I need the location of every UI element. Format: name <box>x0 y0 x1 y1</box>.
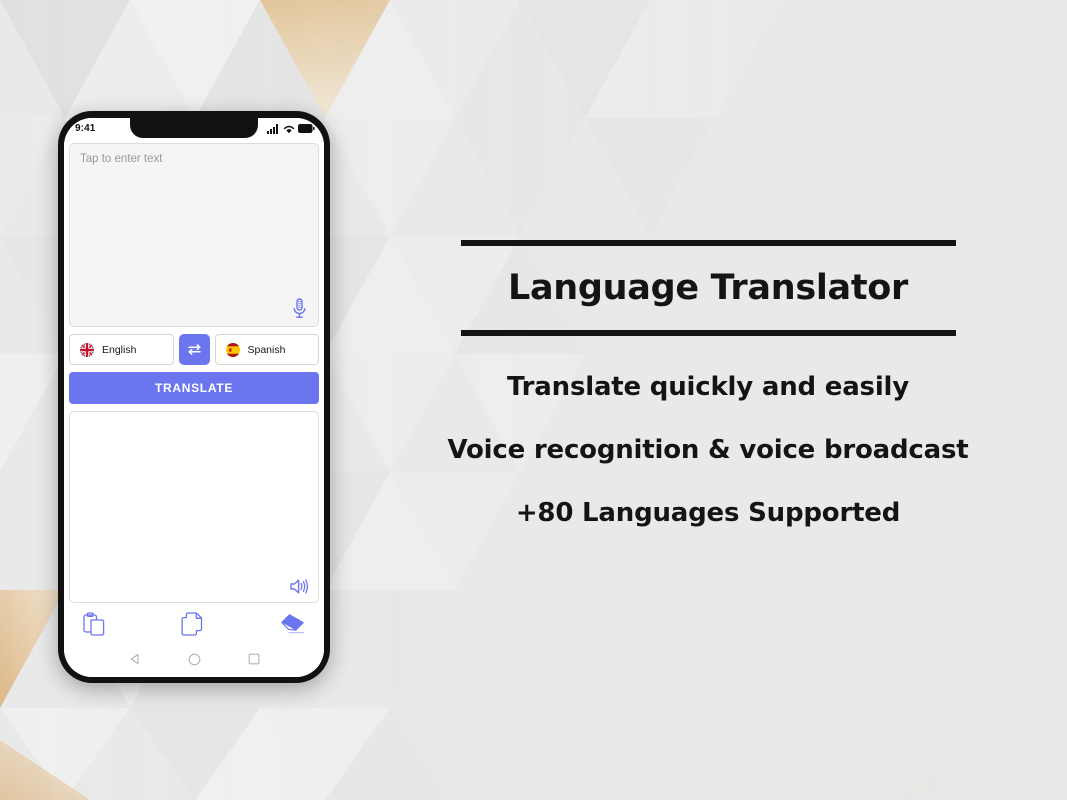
source-text-placeholder: Tap to enter text <box>80 153 308 165</box>
tagline-2: Voice recognition & voice broadcast <box>418 435 998 465</box>
home-circle-icon <box>188 653 201 666</box>
battery-icon <box>298 124 315 133</box>
title-rule-bottom <box>461 330 956 336</box>
status-icons <box>267 124 315 134</box>
android-nav-bar <box>69 645 319 673</box>
recents-button[interactable] <box>248 653 260 665</box>
status-time: 9:41 <box>75 123 95 134</box>
paste-button[interactable] <box>83 612 105 636</box>
clear-button[interactable] <box>279 613 305 635</box>
back-button[interactable] <box>129 653 141 665</box>
source-text-input[interactable]: Tap to enter text <box>69 143 319 327</box>
translate-button[interactable]: TRANSLATE <box>69 372 319 404</box>
tagline-1: Translate quickly and easily <box>418 372 998 402</box>
tagline-list: Translate quickly and easily Voice recog… <box>418 372 998 528</box>
swap-arrows-icon <box>187 343 202 356</box>
wifi-icon <box>283 124 295 134</box>
source-language-label: English <box>102 344 136 356</box>
back-triangle-icon <box>129 653 141 665</box>
speaker-icon <box>289 578 309 595</box>
microphone-icon <box>292 298 307 319</box>
marketing-panel: Language Translator Translate quickly an… <box>418 240 998 528</box>
speak-translation-button[interactable] <box>286 574 312 598</box>
signal-icon <box>267 124 280 134</box>
copy-documents-icon <box>181 612 203 636</box>
home-button[interactable] <box>188 653 201 666</box>
source-language-select[interactable]: English <box>69 334 174 365</box>
translated-text-output[interactable] <box>69 411 319 603</box>
uk-flag-icon <box>80 343 94 357</box>
swap-languages-button[interactable] <box>179 334 210 365</box>
paste-clipboard-icon <box>83 612 105 636</box>
target-language-select[interactable]: Spanish <box>215 334 320 365</box>
page-title: Language Translator <box>418 246 998 330</box>
phone-screen: 9:41 Tap t <box>64 118 324 677</box>
target-language-label: Spanish <box>248 344 286 356</box>
phone-notch <box>130 118 258 138</box>
phone-mockup: 9:41 Tap t <box>58 111 330 683</box>
translator-app: Tap to enter text <box>64 139 324 677</box>
action-toolbar <box>69 603 319 645</box>
eraser-icon <box>279 613 305 635</box>
tagline-3: +80 Languages Supported <box>418 498 998 528</box>
recents-square-icon <box>248 653 260 665</box>
spain-flag-icon <box>226 343 240 357</box>
copy-button[interactable] <box>181 612 203 636</box>
microphone-button[interactable] <box>287 295 311 321</box>
language-selector-row: English <box>69 334 319 365</box>
